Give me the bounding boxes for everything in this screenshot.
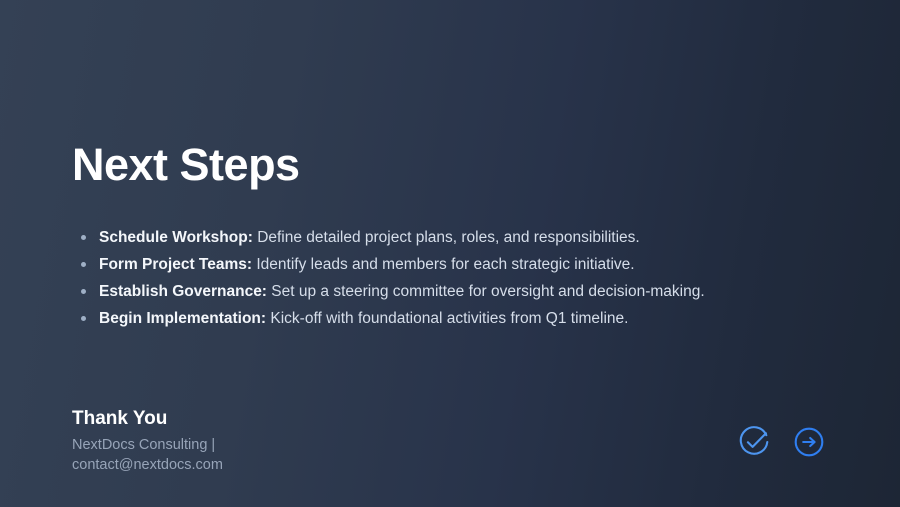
footer-title: Thank You — [72, 407, 277, 432]
slide-root: Next Steps Schedule Workshop: Define det… — [0, 0, 900, 507]
list-item-label: Establish Governance: — [99, 283, 267, 300]
list-item-label: Begin Implementation: — [99, 310, 266, 327]
list-item: Form Project Teams: Identify leads and m… — [72, 251, 827, 278]
list-item-text: Kick-off with foundational activities fr… — [270, 310, 628, 327]
footer-icon-group — [735, 423, 828, 461]
page-title: Next Steps — [72, 142, 828, 187]
footer-subtitle: NextDocs Consulting | contact@nextdocs.c… — [72, 435, 277, 475]
title-block: Next Steps — [72, 142, 828, 187]
list-item: Establish Governance: Set up a steering … — [72, 278, 827, 305]
list-item-label: Schedule Workshop: — [99, 229, 253, 246]
list-item-text: Identify leads and members for each stra… — [256, 256, 634, 273]
list-item: Begin Implementation: Kick-off with foun… — [72, 305, 827, 332]
next-steps-list: Schedule Workshop: Define detailed proje… — [72, 224, 828, 332]
list-item-text: Set up a steering committee for oversigh… — [271, 283, 704, 300]
slide-footer: Thank You NextDocs Consulting | contact@… — [72, 407, 828, 475]
footer-contact-block: Thank You NextDocs Consulting | contact@… — [72, 407, 277, 475]
check-circle-icon[interactable] — [735, 423, 773, 461]
list-item: Schedule Workshop: Define detailed proje… — [72, 224, 827, 251]
list-item-text: Define detailed project plans, roles, an… — [257, 229, 640, 246]
arrow-right-circle-icon[interactable] — [790, 423, 828, 461]
list-item-label: Form Project Teams: — [99, 256, 252, 273]
